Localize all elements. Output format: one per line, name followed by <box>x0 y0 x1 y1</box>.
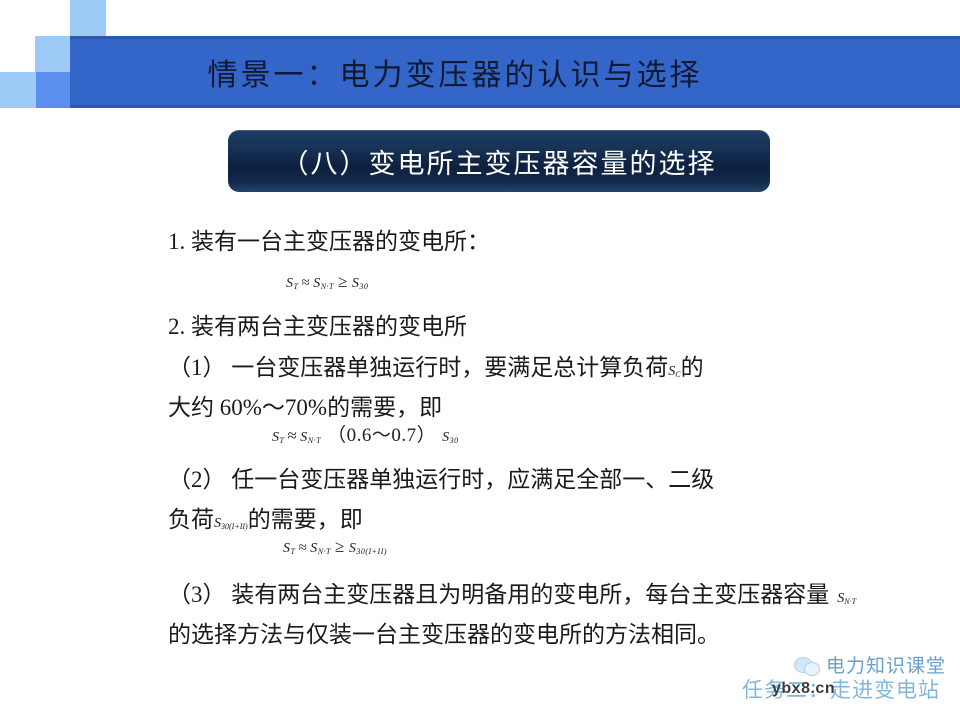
item2-2-line2-text-b: 的需要，即 <box>248 507 363 532</box>
item2-1-line1: （1） 一台变压器单独运行时，要满足总计算负荷SC的 <box>168 348 704 382</box>
formula-3-rhs-sub: 30(I+II) <box>356 547 387 556</box>
deco-square-5 <box>36 72 72 108</box>
formula-2-op1: ≈ <box>284 426 300 445</box>
formula-2-lhs: S <box>272 430 280 445</box>
wechat-icon <box>794 655 820 675</box>
deco-square-2 <box>35 36 71 72</box>
formula-3-op2: ≥ <box>331 537 349 556</box>
site-watermark: ybx8.cn <box>772 680 835 698</box>
formula-2-mid: S <box>300 430 308 445</box>
formula-2-range: （0.6～0.7） <box>321 425 442 446</box>
formula-1-op1: ≈ <box>298 275 313 291</box>
item2-2-line1: （2） 任一台变压器单独运行时，应满足全部一、二级 <box>168 460 714 494</box>
formula-1: ST≈SN·T≥S30 <box>286 272 368 292</box>
slide-body: 1. 装有一台主变压器的变电所： ST≈SN·T≥S30 2. 装有两台主变压器… <box>0 222 960 652</box>
formula-1-mid-sub: N·T <box>321 282 334 291</box>
item2-heading: 2. 装有两台主变压器的变电所 <box>168 307 467 341</box>
formula-2: ST≈SN·T（0.6～0.7）S30 <box>272 420 459 447</box>
item2-3-line2: 的选择方法与仅装一台主变压器的变电所的方法相同。 <box>168 615 720 649</box>
formula-3-op1: ≈ <box>295 540 310 556</box>
formula-3-mid-sub: N·T <box>318 547 331 556</box>
page-title: 情景一：电力变压器的认识与选择 <box>208 50 823 94</box>
title-banner: 情景一：电力变压器的认识与选择 <box>70 36 960 108</box>
formula-1-op2: ≥ <box>334 272 352 291</box>
deco-square-4 <box>0 72 36 108</box>
formula-1-mid: S <box>313 276 321 291</box>
formula-2-rhs-sub: 30 <box>450 436 459 445</box>
item2-1-line2: 大约 60%～70%的需要，即 <box>168 388 442 422</box>
subtitle-box: （八）变电所主变压器容量的选择 <box>228 130 770 192</box>
item2-1-line1-text-a: （1） 一台变压器单独运行时，要满足总计算负荷 <box>168 355 668 380</box>
formula-3-mid: S <box>310 541 318 556</box>
subtitle-text: （八）变电所主变压器容量的选择 <box>282 142 717 181</box>
formula-1-rhs-sub: 30 <box>359 282 368 291</box>
item2-3-line1-text: （3） 装有两台主变压器且为明备用的变电所，每台主变压器容量 <box>168 582 829 607</box>
item2-3-inline-symbol: SN·T <box>829 591 856 606</box>
formula-1-lhs: S <box>286 276 294 291</box>
item2-2-line2-text-a: 负荷 <box>168 507 214 532</box>
item2-2-inline-symbol: S30(I+II) <box>214 516 248 531</box>
item1-heading: 1. 装有一台主变压器的变电所： <box>168 222 490 256</box>
formula-3-lhs: S <box>283 541 291 556</box>
item2-1-line1-text-b: 的 <box>681 355 704 380</box>
item2-2-line2: 负荷S30(I+II)的需要，即 <box>168 500 363 534</box>
deco-square-1 <box>70 0 106 36</box>
formula-2-mid-sub: N·T <box>308 436 321 445</box>
item2-3-line1: （3） 装有两台主变压器且为明备用的变电所，每台主变压器容量SN·T <box>168 575 856 609</box>
formula-2-rhs: S <box>442 430 450 445</box>
formula-3: ST≈SN·T≥S30(I+II) <box>283 537 387 557</box>
item2-1-inline-symbol: SC <box>668 364 680 379</box>
